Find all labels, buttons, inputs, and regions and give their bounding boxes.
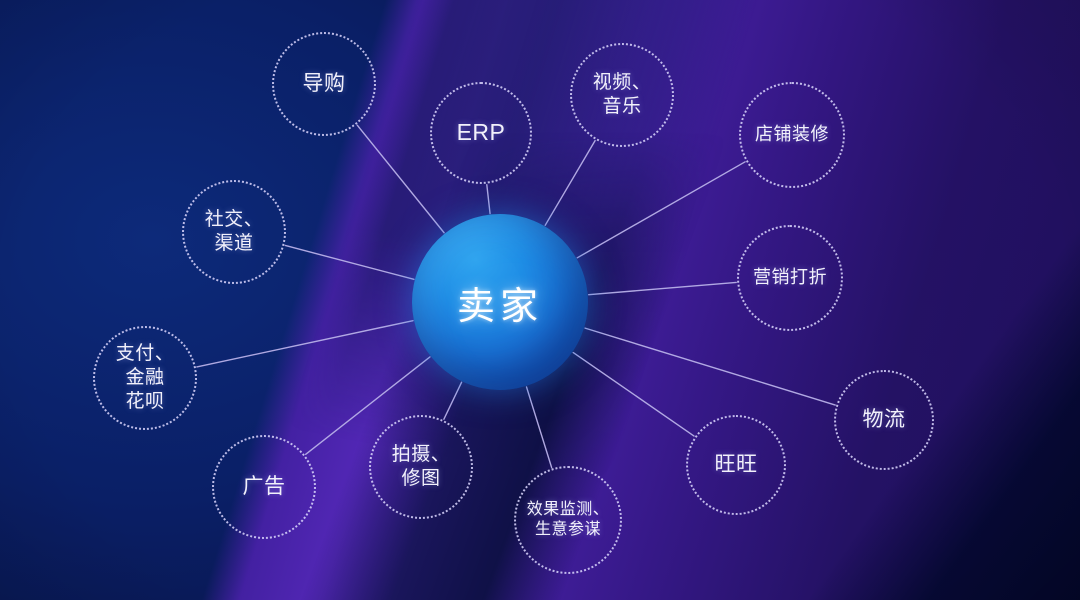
node-label-daogou: 导购 bbox=[299, 71, 350, 98]
node-label-marketing: 营销打折 bbox=[749, 266, 831, 289]
connector-line-logistics bbox=[585, 328, 835, 405]
connector-line-social bbox=[285, 245, 414, 279]
node-advertising[interactable]: 广告 bbox=[212, 435, 316, 539]
node-label-shop-decor: 店铺装修 bbox=[751, 123, 833, 146]
node-shop-decor[interactable]: 店铺装修 bbox=[739, 82, 845, 188]
node-marketing[interactable]: 营销打折 bbox=[737, 225, 843, 331]
node-video-music[interactable]: 视频、 音乐 bbox=[570, 43, 674, 147]
node-label-logistics: 物流 bbox=[859, 407, 910, 434]
node-label-social: 社交、 渠道 bbox=[201, 208, 268, 257]
connector-line-video-music bbox=[545, 141, 595, 226]
center-node-label: 卖家 bbox=[457, 275, 543, 330]
node-label-advertising: 广告 bbox=[239, 474, 290, 501]
connector-line-shop-decor bbox=[577, 162, 745, 258]
node-social[interactable]: 社交、 渠道 bbox=[182, 180, 286, 284]
node-photo-retouch[interactable]: 拍摄、 修图 bbox=[369, 415, 473, 519]
connector-line-photo-retouch bbox=[444, 382, 462, 419]
connector-line-erp bbox=[487, 185, 490, 214]
node-payment[interactable]: 支付、 金融 花呗 bbox=[93, 326, 197, 430]
connector-line-marketing bbox=[589, 282, 736, 294]
node-label-wangwang: 旺旺 bbox=[711, 452, 762, 479]
connector-line-payment bbox=[197, 321, 413, 367]
center-node-seller[interactable]: 卖家 bbox=[412, 214, 588, 390]
node-wangwang[interactable]: 旺旺 bbox=[686, 415, 786, 515]
node-analytics[interactable]: 效果监测、 生意参谋 bbox=[514, 466, 622, 574]
diagram-canvas: 导购ERP视频、 音乐店铺装修营销打折物流旺旺效果监测、 生意参谋拍摄、 修图广… bbox=[0, 0, 1080, 600]
node-daogou[interactable]: 导购 bbox=[272, 32, 376, 136]
node-label-payment: 支付、 金融 花呗 bbox=[112, 342, 179, 415]
node-erp[interactable]: ERP bbox=[430, 82, 532, 184]
node-label-erp: ERP bbox=[453, 118, 510, 147]
node-label-photo-retouch: 拍摄、 修图 bbox=[388, 443, 455, 492]
connector-line-wangwang bbox=[573, 353, 694, 436]
node-label-video-music: 视频、 音乐 bbox=[589, 71, 656, 120]
node-logistics[interactable]: 物流 bbox=[834, 370, 934, 470]
node-label-analytics: 效果监测、 生意参谋 bbox=[523, 500, 614, 541]
connector-line-analytics bbox=[527, 387, 552, 468]
